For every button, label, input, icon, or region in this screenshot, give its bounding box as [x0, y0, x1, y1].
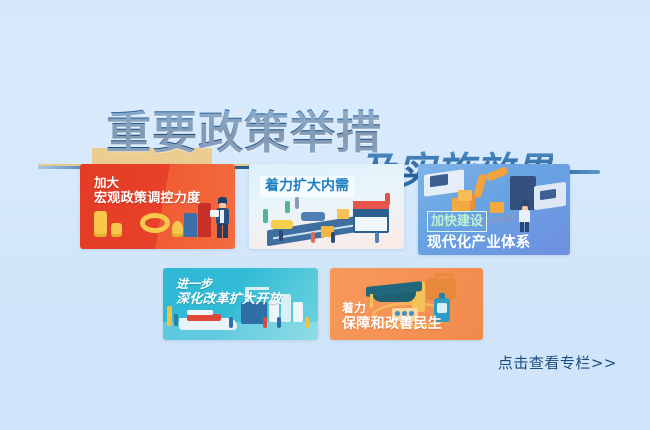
card-peoples-wellbeing[interactable]: 着力 保障和改善民生	[330, 268, 483, 340]
card-industry-line1: 加快建设	[427, 211, 487, 232]
card-industry-line2: 现代化产业体系	[427, 234, 531, 253]
card-demand-line1: 着力扩大内需	[265, 178, 349, 195]
card-expand-demand[interactable]: 着力扩大内需	[249, 164, 404, 249]
card-demand-label: 着力扩大内需	[260, 176, 354, 197]
card-macro-policy[interactable]: 加大 宏观政策调控力度	[80, 164, 235, 249]
card-modern-industry[interactable]: 加快建设 现代化产业体系	[418, 164, 570, 255]
card-macro-label: 加大 宏观政策调控力度	[94, 175, 200, 207]
banner-title-block: 重要政策举措 及实施效果	[0, 52, 650, 152]
card-welfare-label: 着力 保障和改善民生	[342, 300, 442, 332]
view-column-link[interactable]: 点击查看专栏>>	[498, 352, 617, 373]
page-title-main: 重要政策举措	[106, 108, 382, 158]
card-macro-line1: 加大	[94, 175, 200, 191]
card-reform-label: 进一步 深化改革扩大开放	[176, 276, 282, 308]
card-welfare-line2: 保障和改善民生	[342, 316, 442, 332]
policy-banner: 重要政策举措 及实施效果 加大 宏观政策调控力	[0, 0, 650, 430]
card-deepen-reform[interactable]: 进一步 深化改革扩大开放	[163, 268, 318, 340]
card-industry-label: 加快建设 现代化产业体系	[427, 211, 531, 253]
card-macro-line2: 宏观政策调控力度	[94, 191, 200, 207]
card-welfare-line1: 着力	[342, 300, 442, 316]
card-reform-line2: 深化改革扩大开放	[176, 292, 282, 308]
card-reform-line1: 进一步	[176, 276, 282, 292]
